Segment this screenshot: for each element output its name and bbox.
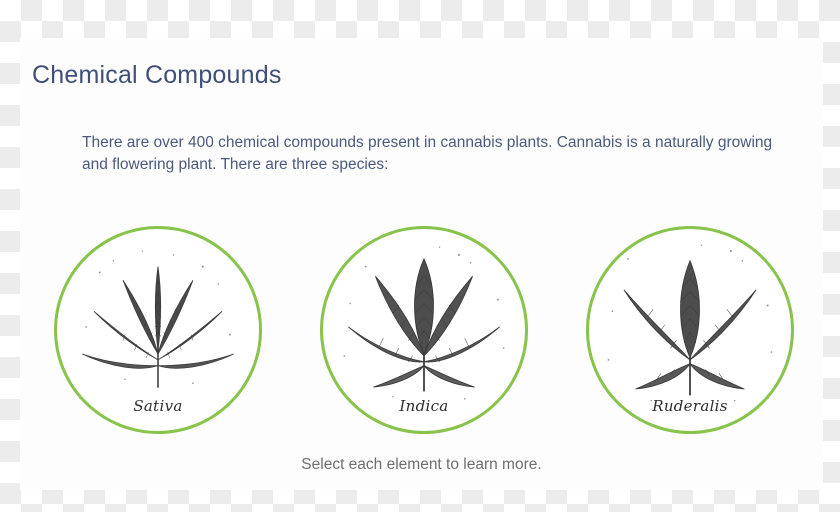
species-card-indica[interactable]: Indica	[320, 226, 528, 434]
species-label-ruderalis: Ruderalis	[589, 397, 791, 415]
cannabis-leaf-sativa-icon	[57, 231, 259, 411]
species-label-sativa: Sativa	[57, 397, 259, 415]
content-card: Chemical Compounds There are over 400 ch…	[20, 38, 823, 490]
species-list: Sativa	[54, 226, 794, 441]
page-title: Chemical Compounds	[32, 61, 282, 90]
cannabis-leaf-indica-icon	[323, 231, 525, 411]
intro-paragraph: There are over 400 chemical compounds pr…	[82, 132, 782, 177]
instruction-text: Select each element to learn more.	[20, 456, 823, 474]
species-label-indica: Indica	[323, 397, 525, 415]
cannabis-leaf-ruderalis-icon	[589, 231, 791, 411]
screenshot-stage: Chemical Compounds There are over 400 ch…	[0, 0, 840, 512]
species-card-sativa[interactable]: Sativa	[54, 226, 262, 434]
species-card-ruderalis[interactable]: Ruderalis	[586, 226, 794, 434]
